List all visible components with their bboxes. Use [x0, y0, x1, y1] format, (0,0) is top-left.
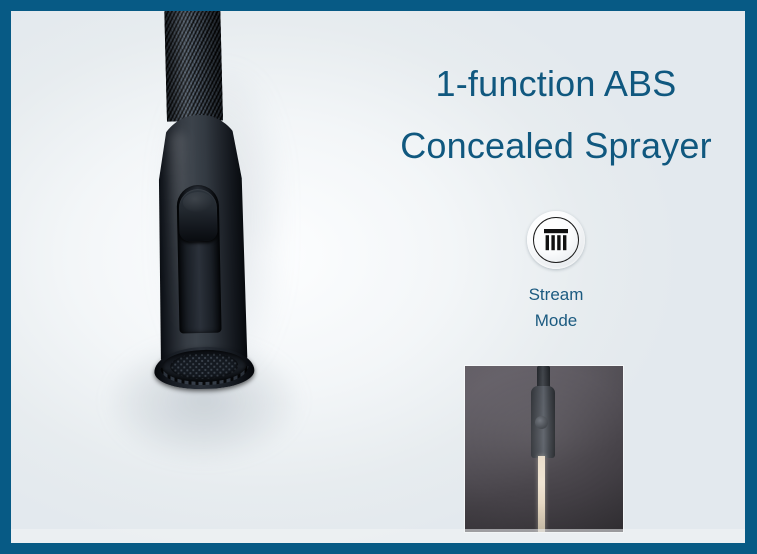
sprayer-head — [147, 114, 257, 384]
stream-glyph — [543, 228, 569, 252]
product-slide: 1-function ABS Concealed Sprayer Stream … — [0, 0, 757, 554]
inset-vignette — [465, 366, 623, 532]
footer-strip — [11, 529, 745, 543]
braided-hose — [164, 11, 223, 122]
sprayer-push-button — [179, 189, 218, 242]
slide-inner-canvas: 1-function ABS Concealed Sprayer Stream … — [11, 11, 745, 543]
stream-mode-icon-ring — [533, 217, 579, 263]
push-button-highlight — [183, 192, 213, 213]
spray-mode-block: Stream Mode — [466, 211, 646, 334]
title-line-1: 1-function ABS — [366, 53, 745, 115]
mode-label-line-1: Stream — [466, 282, 646, 308]
mode-label-line-2: Mode — [466, 308, 646, 334]
inset-demo-photo — [465, 366, 623, 532]
title-line-2: Concealed Sprayer — [366, 115, 745, 177]
stream-mode-icon — [527, 211, 585, 269]
page-title: 1-function ABS Concealed Sprayer — [366, 53, 745, 177]
